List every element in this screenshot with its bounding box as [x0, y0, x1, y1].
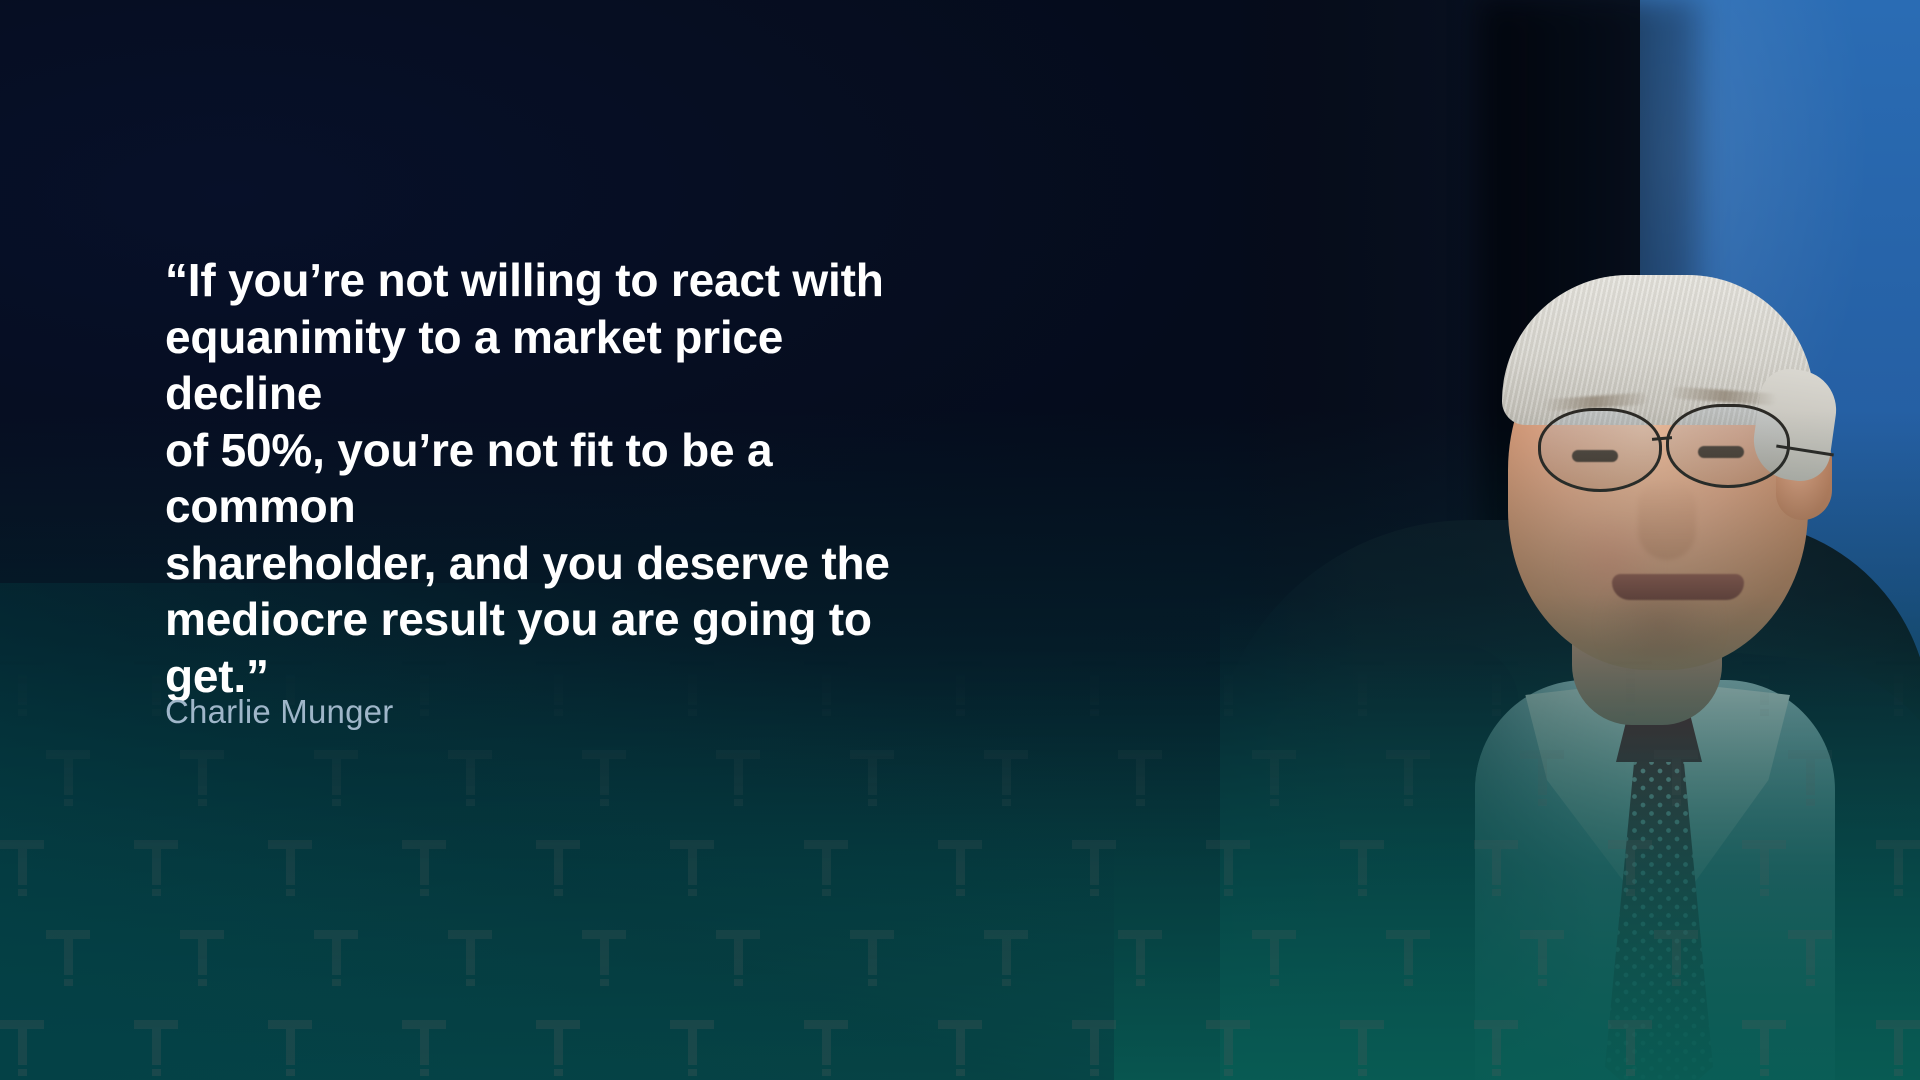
quote-block: “If you’re not willing to react with equ… — [165, 252, 925, 704]
quote-text: “If you’re not willing to react with equ… — [165, 252, 925, 704]
quote-card: “If you’re not willing to react with equ… — [0, 0, 1920, 1080]
quote-attribution: Charlie Munger — [165, 693, 393, 731]
